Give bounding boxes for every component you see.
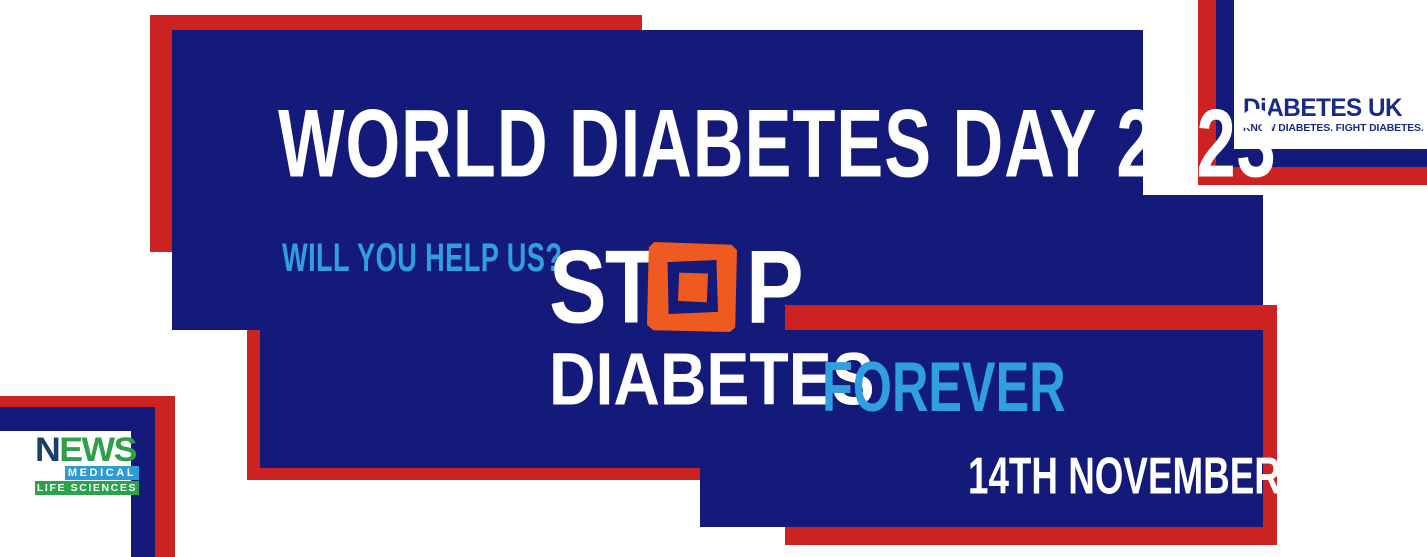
stop-diabetes-logo: ST P DIABETES [549, 238, 819, 413]
banner-forever-word: FOREVER [822, 352, 1066, 423]
orange-square-core [678, 272, 708, 303]
banner-title: WORLD DIABETES DAY 2023 [278, 96, 1277, 192]
banner-tagline: WILL YOU HELP US? [282, 238, 562, 278]
stop-logo-row: ST P [549, 238, 819, 342]
banner-date: 14TH NOVEMBER [968, 450, 1281, 502]
stop-logo-st: ST [549, 236, 656, 340]
news-medical-logo: NEWS MEDICAL LIFE SCIENCES [35, 434, 139, 490]
news-medical-logo-news: NEWS [35, 434, 144, 466]
orange-square-brush-icon [647, 242, 737, 332]
world-diabetes-day-banner: DiABETES UK KNOW DIABETES. FIGHT DIABETE… [0, 0, 1427, 557]
news-medical-logo-life-sciences: LIFE SCIENCES [35, 481, 139, 495]
stop-logo-p: P [746, 236, 804, 340]
